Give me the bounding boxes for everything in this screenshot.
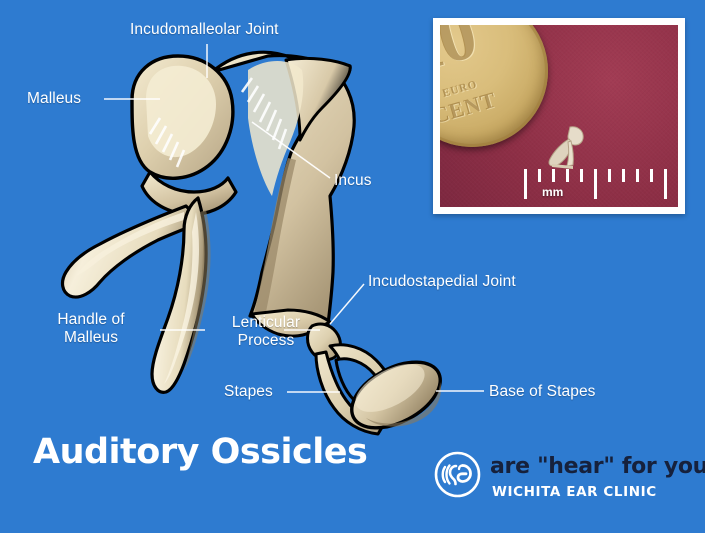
poster-canvas: Incudomalleolar Joint Malleus Incus Hand…: [0, 0, 705, 533]
logo-tagline: are "hear" for you!: [490, 454, 705, 479]
label-stapes: Stapes: [224, 383, 273, 401]
stapes-bone: [308, 324, 452, 441]
ruler-tick: [622, 169, 625, 182]
label-incudostapedial-joint: Incudostapedial Joint: [368, 273, 516, 291]
label-incus: Incus: [334, 172, 372, 190]
page-title: Auditory Ossicles: [33, 432, 367, 472]
ruler-tick: [664, 169, 667, 199]
photo-area: 10 EURO CENT: [440, 25, 678, 207]
ruler-tick: [524, 169, 527, 199]
stapes-specimen: [540, 123, 592, 171]
label-incudomalleolar-joint: Incudomalleolar Joint: [130, 21, 279, 39]
label-malleus: Malleus: [27, 90, 81, 108]
ruler-tick: [636, 169, 639, 182]
ruler-tick: [538, 169, 541, 182]
label-base-of-stapes: Base of Stapes: [489, 383, 596, 401]
ruler-tick: [650, 169, 653, 182]
ruler-unit-label: mm: [542, 185, 563, 199]
ear-soundwave-icon: [434, 451, 481, 498]
mm-ruler: mm: [524, 169, 676, 203]
clinic-logo: are "hear" for you! WICHITA EAR CLINIC: [434, 451, 684, 507]
ruler-tick: [594, 169, 597, 199]
label-lenticular-process: Lenticular Process: [212, 314, 320, 350]
ruler-tick: [580, 169, 583, 182]
ruler-tick: [552, 169, 555, 182]
stapes-scale-photo: 10 EURO CENT: [433, 18, 685, 214]
label-handle-of-malleus: Handle of Malleus: [31, 311, 151, 347]
leader-incudostapedial-joint: [330, 284, 364, 324]
logo-clinic-name: WICHITA EAR CLINIC: [492, 484, 657, 500]
ruler-tick: [566, 169, 569, 182]
ruler-tick: [608, 169, 611, 182]
